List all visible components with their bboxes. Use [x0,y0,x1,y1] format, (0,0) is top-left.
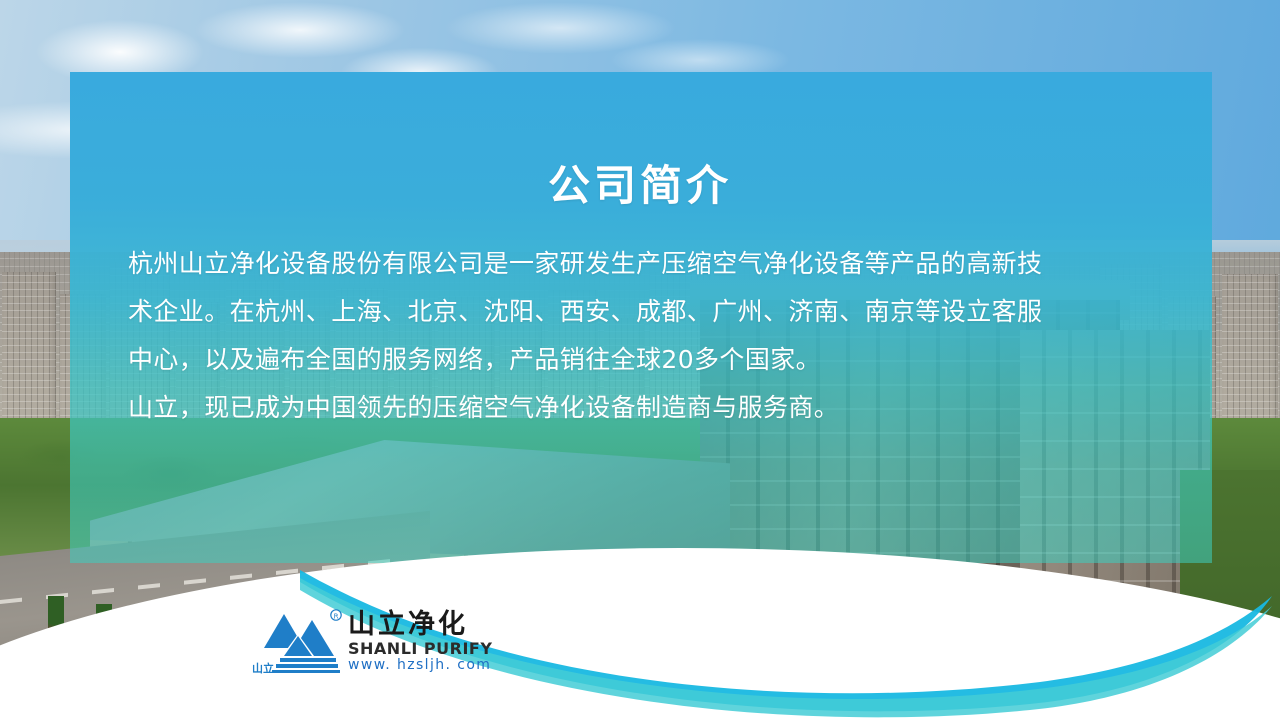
slide-canvas: 公司简介 杭州山立净化设备股份有限公司是一家研发生产压缩空气净化设备等产品的高新… [0,0,1280,720]
registered-trademark-icon: R [334,613,339,621]
company-logo: 山立 R 山立净化 SHANLI PURIFY www. hzsljh. com [252,608,462,678]
description-line-4: 山立，现已成为中国领先的压缩空气净化设备制造商与服务商。 [128,384,1108,432]
description-line-1: 杭州山立净化设备股份有限公司是一家研发生产压缩空气净化设备等产品的高新技 [128,240,1108,288]
page-title: 公司简介 [0,152,1280,213]
logo-wordmark: 山立净化 SHANLI PURIFY www. hzsljh. com [348,610,498,674]
cyan-swoosh-decoration [0,500,1280,720]
building-block [1222,274,1278,422]
description-line-3: 中心，以及遍布全国的服务网络，产品销往全球20多个国家。 [128,336,1108,384]
logo-mark-label: 山立 [252,661,274,674]
shanli-mountain-icon: 山立 R [252,608,344,674]
company-description: 杭州山立净化设备股份有限公司是一家研发生产压缩空气净化设备等产品的高新技 术企业… [128,240,1108,432]
logo-website: www. hzsljh. com [348,657,498,674]
logo-name-cn: 山立净化 [348,610,498,640]
building-block [2,272,56,422]
description-line-2: 术企业。在杭州、上海、北京、沈阳、西安、成都、广州、济南、南京等设立客服 [128,288,1108,336]
logo-name-en: SHANLI PURIFY [348,640,498,657]
